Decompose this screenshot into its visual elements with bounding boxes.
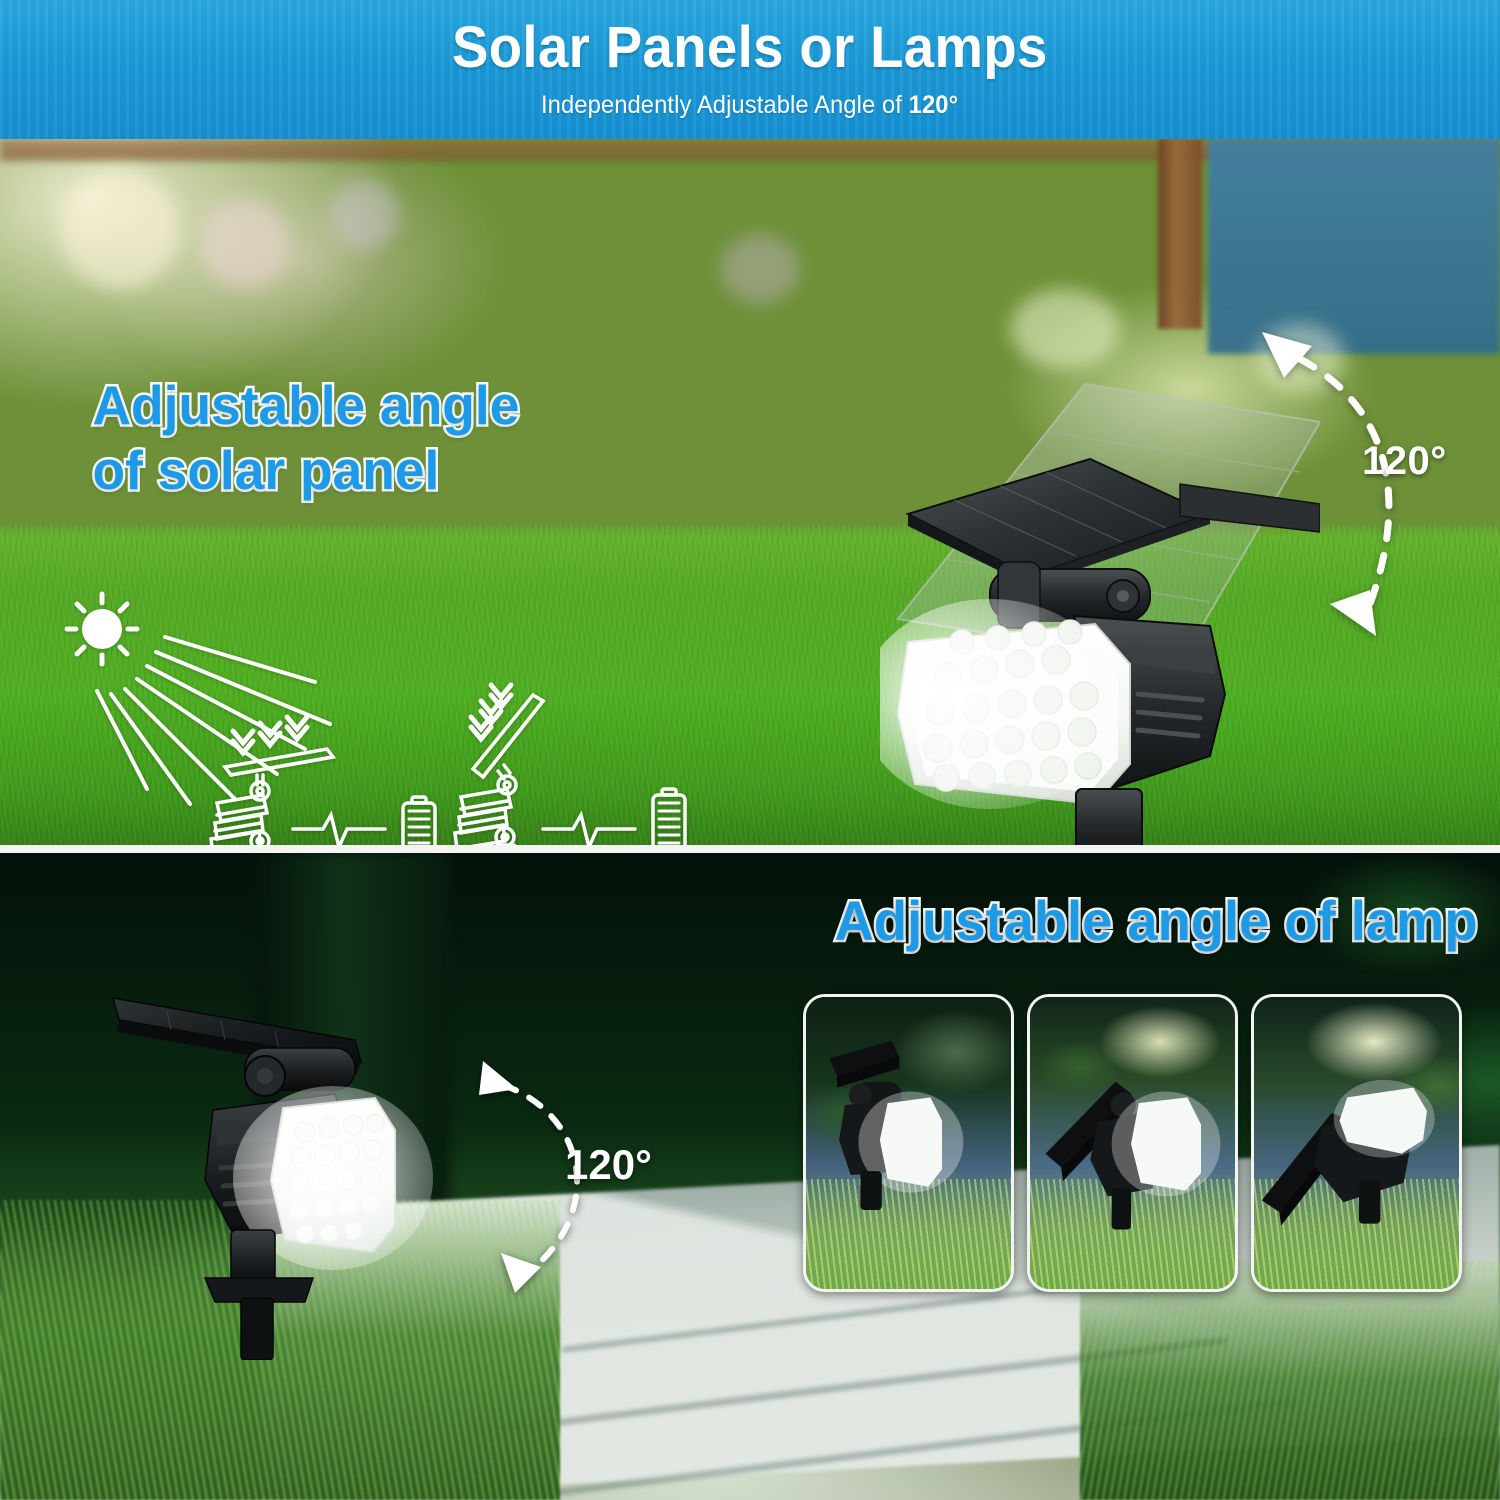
angle-indicator-top: 120° [1240,304,1490,654]
thumbnail-lamp-figure [806,997,1011,1289]
thumbnail-lamp-angle-tilted-mid[interactable] [1027,994,1238,1292]
bokeh-light [720,234,800,304]
lamp-diagram-flat-panel [211,749,333,848]
bokeh-light [1010,289,1120,369]
header-banner: Solar Panels or Lamps Independently Adju… [0,0,1500,139]
thumbnail-lamp-figure [1254,997,1459,1289]
battery-icon [653,789,685,848]
arrow-up-icon [1262,332,1312,378]
sunlight-rays [97,637,330,804]
thumbnail-lamp-angle-tilted-down[interactable] [1251,994,1462,1292]
led-lens [880,599,1130,809]
lamp-diagram-tilted-panel [455,695,543,848]
arrow-down-icon [1330,590,1376,636]
thumbnail-lamp-angle-upright[interactable] [803,994,1014,1292]
top-headline: Adjustable angle of solar panel [93,373,772,503]
arrow-down-icon [501,1253,541,1293]
top-headline-line2: of solar panel [93,438,772,503]
charging-diagram [55,589,755,848]
banner-title: Solar Panels or Lamps [452,19,1048,77]
fence-post [1158,139,1202,329]
section-divider [0,845,1500,853]
angle-value-bottom: 120° [565,1141,652,1189]
top-headline-line1: Adjustable angle [93,373,772,438]
double-chevron-down-icon [233,717,307,753]
bokeh-light [330,179,400,249]
angle-indicator-bottom: 120° [455,1045,705,1305]
battery-icon [403,797,435,848]
thumbnail-lamp-figure [1030,997,1235,1289]
sun-icon [67,594,137,664]
bokeh-light [200,199,290,289]
angle-value-top: 120° [1362,439,1447,484]
infographic-page: Solar Panels or Lamps Independently Adju… [0,0,1500,1500]
banner-subtitle-prefix: Independently Adjustable Angle of [541,91,909,119]
grass-right [1080,1260,1500,1500]
pulse-waveform-icon [293,815,385,847]
pulse-waveform-icon [543,815,635,847]
top-garden-scene: Adjustable angle of solar panel [0,139,1500,848]
banner-subtitle: Independently Adjustable Angle of 120° [541,91,958,120]
bottom-headline: Adjustable angle of lamp [478,893,1477,949]
banner-subtitle-value: 120° [909,91,959,119]
bokeh-light [60,169,180,289]
thumbnail-row [803,994,1463,1292]
